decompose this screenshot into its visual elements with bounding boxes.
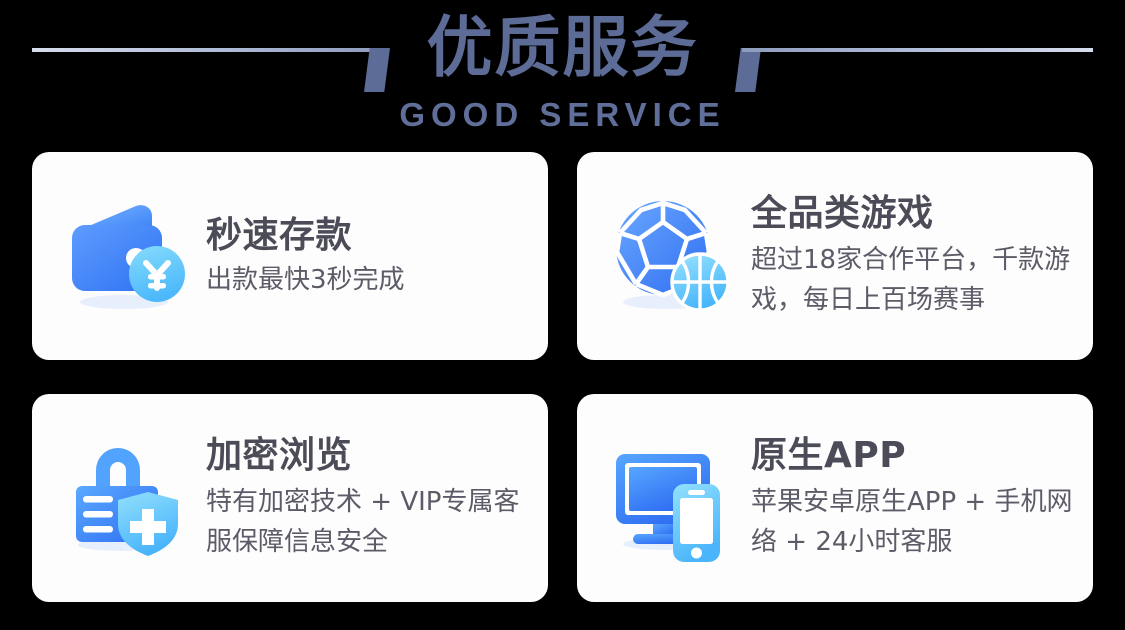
feature-card-title: 全品类游戏 (751, 192, 1079, 236)
feature-card-text: 加密浏览 特有加密技术 + VIP专属客服保障信息安全 (206, 434, 534, 562)
feature-card-description: 苹果安卓原生APP + 手机网络 + 24小时客服 (751, 482, 1079, 562)
feature-card-text: 原生APP 苹果安卓原生APP + 手机网络 + 24小时客服 (751, 434, 1079, 562)
page-title: 优质服务 (0, 8, 1125, 88)
feature-card-title: 原生APP (751, 434, 1079, 478)
feature-card-description: 出款最快3秒完成 (206, 262, 534, 299)
feature-card-native-app[interactable]: 原生APP 苹果安卓原生APP + 手机网络 + 24小时客服 (577, 394, 1093, 602)
soccer-basketball-icon (607, 192, 735, 320)
lock-shield-icon (62, 434, 190, 562)
feature-card-title: 加密浏览 (206, 434, 534, 478)
feature-card-title: 秒速存款 (206, 214, 534, 258)
feature-card-description: 特有加密技术 + VIP专属客服保障信息安全 (206, 482, 534, 562)
feature-card-grid: 秒速存款 出款最快3秒完成 (32, 152, 1093, 602)
feature-card-deposit[interactable]: 秒速存款 出款最快3秒完成 (32, 152, 548, 360)
feature-card-text: 全品类游戏 超过18家合作平台，千款游戏，每日上百场赛事 (751, 192, 1079, 320)
feature-card-encryption[interactable]: 加密浏览 特有加密技术 + VIP专属客服保障信息安全 (32, 394, 548, 602)
page-subtitle: GOOD SERVICE (0, 96, 1125, 134)
wallet-yen-icon (62, 192, 190, 320)
page-header: 优质服务 GOOD SERVICE (0, 0, 1125, 150)
feature-card-description: 超过18家合作平台，千款游戏，每日上百场赛事 (751, 240, 1079, 320)
feature-card-text: 秒速存款 出款最快3秒完成 (206, 214, 534, 299)
feature-card-games[interactable]: 全品类游戏 超过18家合作平台，千款游戏，每日上百场赛事 (577, 152, 1093, 360)
monitor-phone-icon (607, 434, 735, 562)
